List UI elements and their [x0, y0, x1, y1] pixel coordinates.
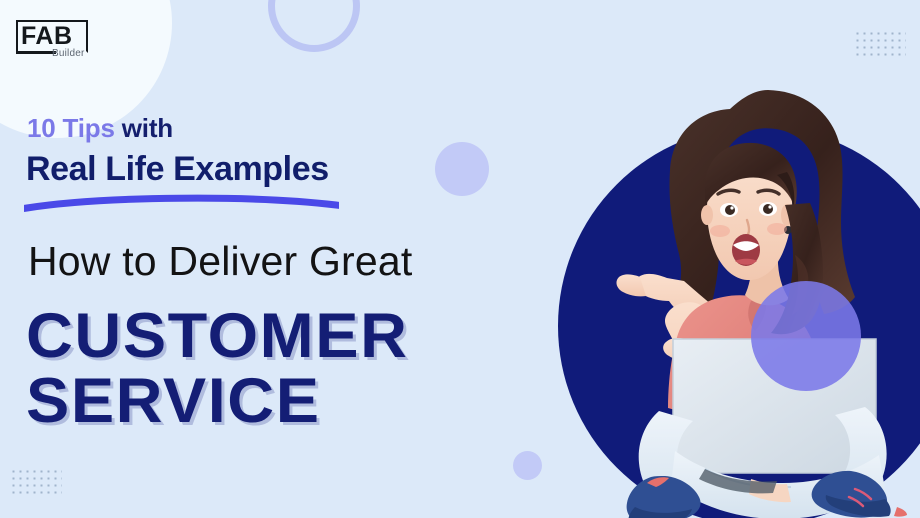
headline: How to Deliver Great — [28, 238, 413, 285]
title-line-2: SERVICE — [26, 365, 321, 437]
eyebrow-rest: with — [122, 113, 173, 143]
title-line-1: CUSTOMER — [26, 300, 409, 372]
poster-canvas: FAB Builder 10 Tips with Real Life Examp… — [0, 0, 920, 518]
underline-swoosh-icon — [24, 192, 339, 212]
solid-circle-decor — [435, 142, 489, 196]
eyebrow-highlight: 10 Tips — [27, 113, 115, 143]
eyebrow-line: 10 Tips with — [27, 113, 173, 144]
solid-circle-decor-small — [513, 451, 542, 480]
dot-grid-icon-top-right — [854, 30, 906, 56]
logo-wordmark: FAB — [21, 23, 73, 50]
logo-subtext: Builder — [52, 48, 85, 59]
purple-accent-circle — [751, 281, 861, 391]
outline-circle-decor — [268, 0, 360, 52]
hero-photo-woman-with-laptop — [555, 65, 920, 518]
subheadline: Real Life Examples — [26, 150, 329, 189]
fab-builder-logo[interactable]: FAB Builder — [16, 20, 88, 62]
dot-grid-icon-bottom-left — [10, 468, 62, 494]
